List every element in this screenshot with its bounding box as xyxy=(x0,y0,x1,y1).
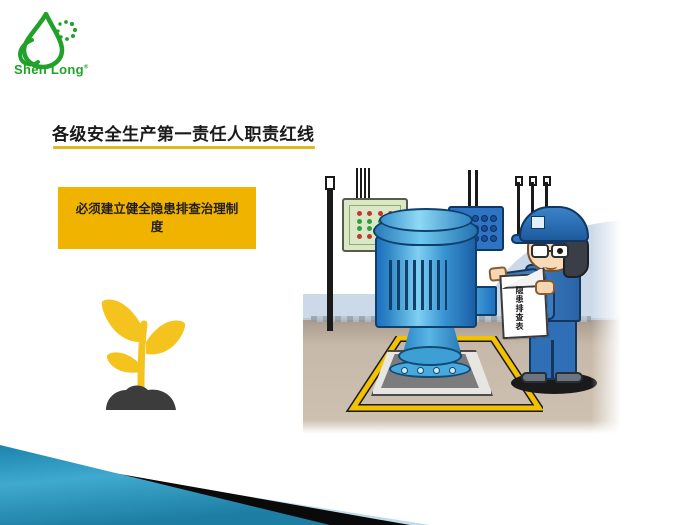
sprout-icon xyxy=(88,280,198,415)
trademark-mark: ® xyxy=(84,65,89,71)
blue-panel-wires xyxy=(468,170,482,208)
worker-leg-seam xyxy=(551,340,554,380)
brand-name: Shen Long® xyxy=(14,62,89,77)
black-post-icon xyxy=(327,176,333,331)
worker-shoe-right xyxy=(555,372,583,383)
illustration-image: 隐患排查表 xyxy=(303,168,625,436)
brand-logo: Shen Long® xyxy=(8,10,100,82)
callout-text: 必须建立健全隐患排查治理制度 xyxy=(70,200,244,236)
brand-name-text: Shen Long xyxy=(14,62,84,77)
inspection-form-label: 隐患排查表 xyxy=(509,286,523,331)
worker-shoe-left xyxy=(521,372,547,383)
vertical-pump-motor-icon xyxy=(375,236,477,328)
illustration-bottom-fade xyxy=(303,420,625,436)
illustration-right-fade xyxy=(591,168,625,436)
worker-glasses-left-lens xyxy=(531,244,549,258)
worker-holding-hand xyxy=(535,280,555,295)
panel-wires xyxy=(356,168,376,200)
worker-mouth xyxy=(545,263,557,270)
pump-lid xyxy=(379,208,473,232)
callout-box: 必须建立健全隐患排查治理制度 xyxy=(58,187,256,249)
helmet-badge-icon xyxy=(531,216,545,229)
pump-cooling-fins xyxy=(389,260,447,310)
presentation-slide: Shen Long® 各级安全生产第一责任人职责红线 必须建立健全隐患排查治理制… xyxy=(0,0,700,525)
pump-base xyxy=(398,346,462,366)
title-underline xyxy=(53,146,315,149)
worker-eye xyxy=(557,248,563,254)
worker-glasses-bridge xyxy=(548,250,553,252)
slide-title: 各级安全生产第一责任人职责红线 xyxy=(52,120,315,145)
bottom-left-blue-wedge xyxy=(0,435,700,525)
post-cap-icon xyxy=(325,176,335,190)
